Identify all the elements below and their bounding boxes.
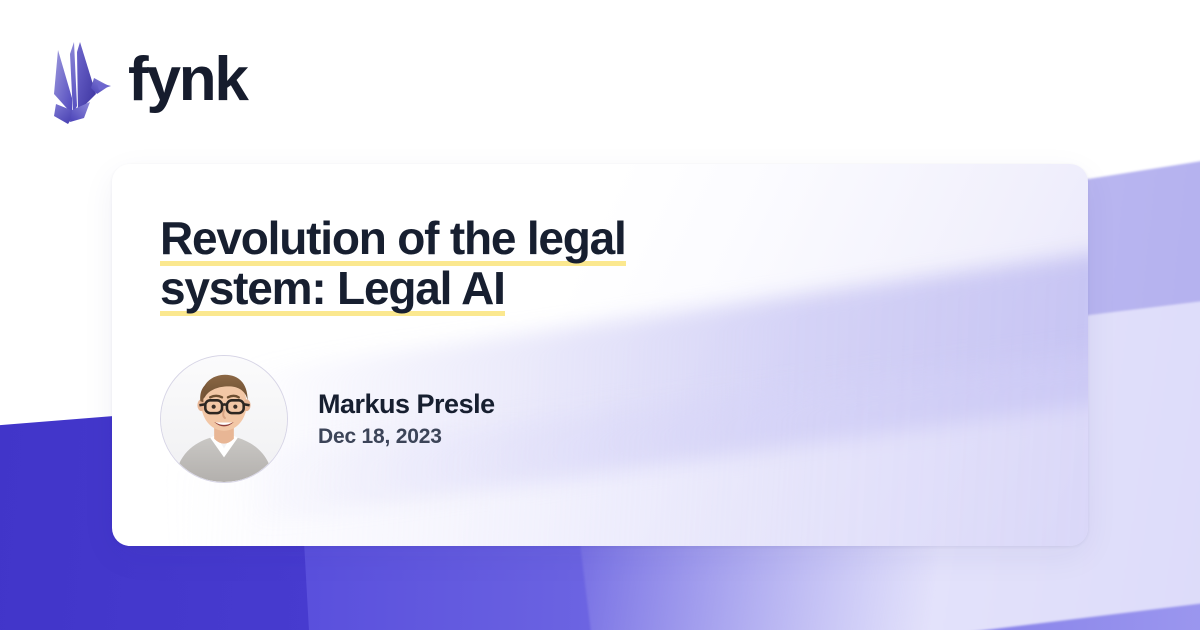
author-name: Markus Presle [318,389,495,420]
article-title-line-1: Revolution of the legal [160,212,626,266]
author-portrait-avatar [160,355,288,483]
author-block: Markus Presle Dec 18, 2023 [160,355,1088,483]
article-title-line-2: system: Legal AI [160,262,505,316]
brand-wordmark: fynk [128,49,247,111]
brand-logo[interactable]: fynk [50,36,247,124]
origami-bird-icon [50,36,112,124]
publish-date: Dec 18, 2023 [318,424,495,449]
article-title: Revolution of the legal system: Legal AI [160,214,720,313]
article-card: Revolution of the legal system: Legal AI [112,164,1088,546]
author-meta: Markus Presle Dec 18, 2023 [318,389,495,449]
social-share-card: fynk Revolution of the legal system: Leg… [0,0,1200,630]
